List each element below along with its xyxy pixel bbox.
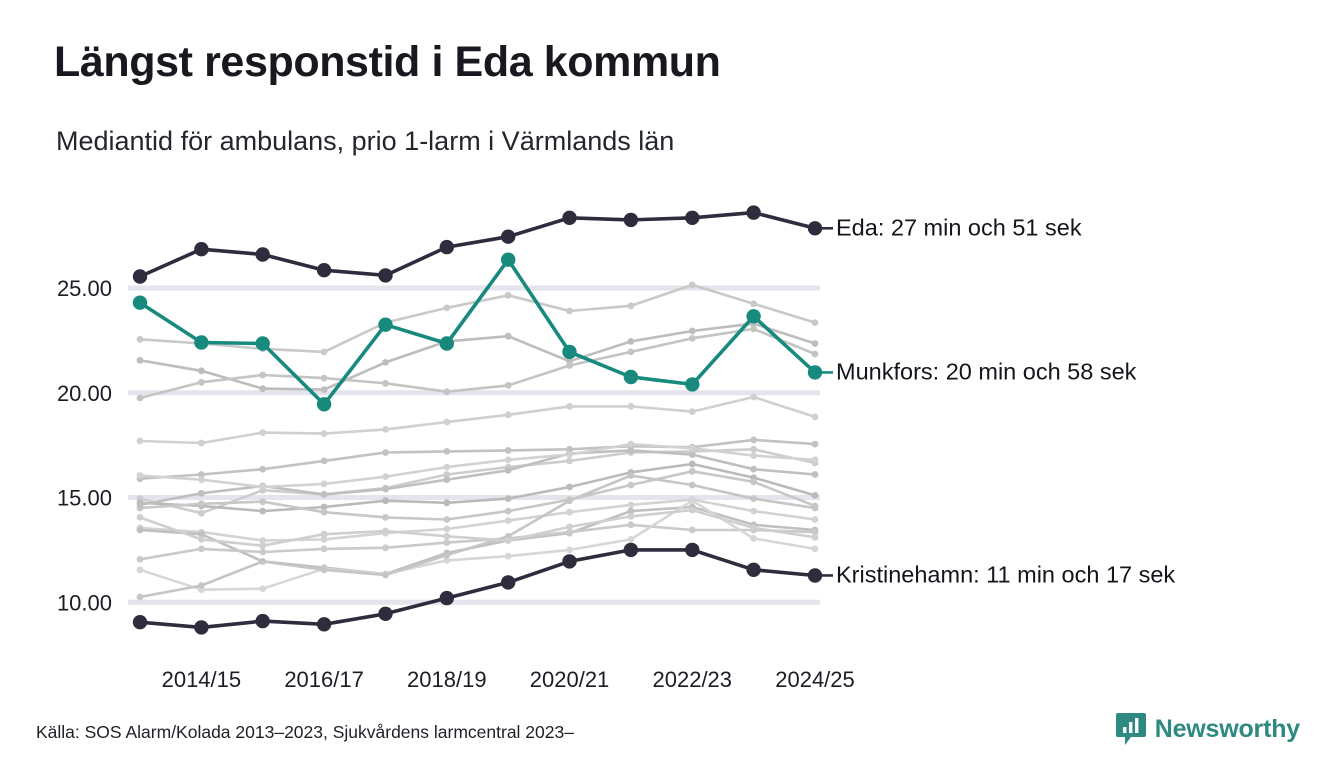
data-point bbox=[812, 492, 819, 499]
data-point bbox=[812, 505, 819, 512]
data-point bbox=[505, 467, 512, 474]
series-annotations-group: Eda: 27 min och 51 sekMunkfors: 20 min o… bbox=[820, 214, 1175, 587]
data-point bbox=[256, 336, 270, 350]
data-point bbox=[628, 482, 635, 489]
data-point bbox=[562, 345, 576, 359]
x-axis-tick-label: 2014/15 bbox=[162, 667, 242, 692]
data-point bbox=[382, 486, 389, 493]
data-point bbox=[689, 328, 696, 335]
data-point bbox=[505, 382, 512, 389]
data-point bbox=[137, 395, 144, 402]
data-point bbox=[259, 484, 266, 491]
data-point bbox=[501, 253, 515, 267]
data-point bbox=[566, 451, 573, 458]
data-point bbox=[812, 546, 819, 553]
data-point bbox=[812, 441, 819, 448]
data-point bbox=[750, 437, 757, 444]
data-point bbox=[321, 546, 328, 553]
annotation-label: Kristinehamn: 11 min och 17 sek bbox=[836, 562, 1175, 588]
data-point bbox=[812, 516, 819, 523]
data-point bbox=[382, 380, 389, 387]
data-point bbox=[321, 531, 328, 538]
data-point bbox=[194, 620, 208, 634]
data-point bbox=[137, 527, 144, 534]
data-point bbox=[624, 543, 638, 557]
data-point bbox=[689, 335, 696, 342]
data-point bbox=[812, 456, 819, 463]
data-point bbox=[259, 542, 266, 549]
data-point bbox=[382, 544, 389, 551]
data-point bbox=[259, 549, 266, 556]
series-line bbox=[140, 213, 815, 277]
data-point bbox=[321, 375, 328, 382]
data-point bbox=[750, 394, 757, 401]
data-point bbox=[566, 362, 573, 369]
data-point bbox=[317, 263, 331, 277]
data-point bbox=[566, 484, 573, 491]
data-point bbox=[133, 269, 147, 283]
data-point bbox=[198, 440, 205, 447]
annotation-label: Munkfors: 20 min och 58 sek bbox=[836, 359, 1137, 385]
data-point bbox=[382, 473, 389, 480]
data-point bbox=[566, 497, 573, 504]
data-point bbox=[259, 585, 266, 592]
data-point bbox=[443, 516, 450, 523]
data-point bbox=[198, 379, 205, 386]
data-point bbox=[198, 536, 205, 543]
data-point bbox=[198, 476, 205, 483]
data-point bbox=[443, 499, 450, 506]
data-point bbox=[137, 438, 144, 445]
data-point bbox=[628, 536, 635, 543]
data-point bbox=[689, 445, 696, 452]
annotation-Munkfors: Munkfors: 20 min och 58 sek bbox=[820, 359, 1137, 385]
x-axis-tick-label: 2018/19 bbox=[407, 667, 487, 692]
x-axis-tick-label: 2016/17 bbox=[284, 667, 364, 692]
data-point bbox=[137, 594, 144, 601]
data-point bbox=[566, 509, 573, 516]
chart-svg: 10.0015.0020.0025.00 2014/152016/172018/… bbox=[0, 0, 1340, 780]
data-point bbox=[259, 385, 266, 392]
data-point bbox=[382, 426, 389, 433]
data-point bbox=[505, 508, 512, 515]
data-point bbox=[443, 388, 450, 395]
data-point bbox=[256, 247, 270, 261]
data-point bbox=[505, 333, 512, 340]
y-axis-tick-label: 15.00 bbox=[57, 486, 112, 511]
y-axis-tick-label: 25.00 bbox=[57, 276, 112, 301]
data-point bbox=[198, 490, 205, 497]
annotation-label: Eda: 27 min och 51 sek bbox=[836, 214, 1082, 240]
data-point bbox=[750, 525, 757, 532]
data-point bbox=[689, 451, 696, 458]
series-other-4 bbox=[137, 394, 819, 447]
data-point bbox=[443, 448, 450, 455]
data-point bbox=[317, 617, 331, 631]
data-point bbox=[628, 441, 635, 448]
data-point bbox=[566, 458, 573, 465]
data-point bbox=[685, 543, 699, 557]
data-point bbox=[746, 309, 760, 323]
data-point bbox=[566, 403, 573, 410]
data-point bbox=[443, 539, 450, 546]
data-point bbox=[562, 554, 576, 568]
data-point bbox=[689, 461, 696, 468]
highlighted-series-group bbox=[133, 205, 822, 634]
series-Eda bbox=[133, 205, 822, 283]
data-point bbox=[689, 482, 696, 489]
data-point bbox=[137, 566, 144, 573]
data-point bbox=[259, 498, 266, 505]
data-point bbox=[750, 478, 757, 485]
x-axis-tick-label: 2024/25 bbox=[775, 667, 855, 692]
y-axis-tick-labels: 10.0015.0020.0025.00 bbox=[57, 276, 112, 615]
data-point bbox=[628, 338, 635, 345]
data-point bbox=[812, 340, 819, 347]
data-point bbox=[137, 556, 144, 563]
line-chart-plot: 10.0015.0020.0025.00 2014/152016/172018/… bbox=[0, 0, 1340, 780]
data-point bbox=[505, 456, 512, 463]
data-point bbox=[378, 318, 392, 332]
data-point bbox=[259, 508, 266, 515]
data-point bbox=[259, 558, 266, 565]
data-point bbox=[505, 411, 512, 418]
data-point bbox=[382, 514, 389, 521]
data-point bbox=[137, 336, 144, 343]
data-point bbox=[378, 607, 392, 621]
data-point bbox=[812, 414, 819, 421]
data-point bbox=[443, 552, 450, 559]
data-point bbox=[750, 446, 757, 453]
data-point bbox=[194, 335, 208, 349]
data-point bbox=[321, 430, 328, 437]
data-point bbox=[812, 351, 819, 358]
data-point bbox=[689, 497, 696, 504]
data-point bbox=[628, 521, 635, 528]
data-point bbox=[198, 510, 205, 517]
data-point bbox=[440, 240, 454, 254]
data-point bbox=[628, 447, 635, 454]
data-point bbox=[443, 533, 450, 540]
data-point bbox=[628, 502, 635, 509]
series-line bbox=[140, 324, 815, 390]
data-point bbox=[689, 527, 696, 534]
data-point bbox=[321, 349, 328, 356]
data-point bbox=[746, 563, 760, 577]
data-point bbox=[382, 528, 389, 535]
data-point bbox=[628, 403, 635, 410]
data-point bbox=[321, 386, 328, 393]
data-point bbox=[321, 481, 328, 488]
data-point bbox=[259, 466, 266, 473]
data-point bbox=[746, 205, 760, 219]
data-point bbox=[689, 282, 696, 289]
data-point bbox=[689, 408, 696, 415]
data-point bbox=[443, 464, 450, 471]
x-axis-tick-labels: 2014/152016/172018/192020/212022/232024/… bbox=[162, 667, 855, 692]
data-point bbox=[750, 452, 757, 459]
data-point bbox=[750, 535, 757, 542]
data-point bbox=[382, 359, 389, 366]
x-axis-tick-label: 2022/23 bbox=[653, 667, 733, 692]
data-point bbox=[321, 509, 328, 516]
data-point bbox=[443, 305, 450, 312]
data-point bbox=[812, 319, 819, 326]
data-point bbox=[198, 582, 205, 589]
series-other-16 bbox=[137, 441, 819, 491]
data-point bbox=[689, 468, 696, 475]
brand-name: Newsworthy bbox=[1155, 715, 1300, 744]
data-point bbox=[443, 419, 450, 426]
data-point bbox=[505, 517, 512, 524]
data-point bbox=[440, 336, 454, 350]
data-point bbox=[628, 472, 635, 479]
background-series-group bbox=[137, 282, 819, 601]
data-point bbox=[378, 268, 392, 282]
data-point bbox=[685, 211, 699, 225]
data-point bbox=[198, 367, 205, 374]
series-line bbox=[140, 525, 815, 560]
data-point bbox=[137, 514, 144, 521]
data-point bbox=[137, 357, 144, 364]
data-point bbox=[501, 575, 515, 589]
annotation-Eda: Eda: 27 min och 51 sek bbox=[820, 214, 1082, 240]
bar-chart-speech-bubble-icon bbox=[1116, 712, 1146, 746]
data-point bbox=[137, 472, 144, 479]
data-point bbox=[194, 242, 208, 256]
data-point bbox=[382, 497, 389, 504]
data-point bbox=[317, 397, 331, 411]
data-point bbox=[321, 566, 328, 573]
data-point bbox=[321, 458, 328, 465]
data-point bbox=[133, 296, 147, 310]
data-point bbox=[321, 491, 328, 498]
annotation-Kristinehamn: Kristinehamn: 11 min och 17 sek bbox=[820, 562, 1175, 588]
series-line bbox=[140, 500, 815, 541]
x-axis-tick-label: 2020/21 bbox=[530, 667, 610, 692]
data-point bbox=[628, 349, 635, 356]
data-point bbox=[750, 326, 757, 333]
chart-card: Längst responstid i Eda kommun Mediantid… bbox=[0, 0, 1340, 780]
data-point bbox=[256, 614, 270, 628]
data-point bbox=[501, 230, 515, 244]
data-point bbox=[750, 495, 757, 502]
data-point bbox=[382, 449, 389, 456]
newsworthy-logo: Newsworthy bbox=[1116, 712, 1300, 746]
data-point bbox=[198, 546, 205, 553]
data-point bbox=[259, 429, 266, 436]
data-point bbox=[198, 500, 205, 507]
data-point bbox=[689, 507, 696, 514]
data-point bbox=[443, 476, 450, 483]
data-point bbox=[566, 308, 573, 315]
data-point bbox=[443, 526, 450, 533]
data-point bbox=[382, 572, 389, 579]
data-point bbox=[137, 502, 144, 509]
data-point bbox=[750, 508, 757, 515]
data-point bbox=[685, 377, 699, 391]
data-point bbox=[750, 300, 757, 307]
data-point bbox=[505, 553, 512, 560]
data-point bbox=[624, 213, 638, 227]
data-point bbox=[505, 537, 512, 544]
data-point bbox=[505, 495, 512, 502]
y-axis-tick-label: 10.00 bbox=[57, 590, 112, 615]
series-other-6 bbox=[137, 446, 819, 517]
data-point bbox=[812, 534, 819, 541]
series-other-3 bbox=[137, 326, 819, 402]
series-line bbox=[140, 397, 815, 443]
y-axis-tick-label: 20.00 bbox=[57, 381, 112, 406]
data-point bbox=[812, 471, 819, 478]
data-point bbox=[505, 292, 512, 299]
data-point bbox=[750, 466, 757, 473]
data-point bbox=[562, 211, 576, 225]
data-point bbox=[566, 524, 573, 531]
data-point bbox=[440, 591, 454, 605]
data-point bbox=[566, 547, 573, 554]
source-note: Källa: SOS Alarm/Kolada 2013–2023, Sjukv… bbox=[36, 722, 574, 743]
data-point bbox=[133, 615, 147, 629]
data-point bbox=[628, 302, 635, 309]
data-point bbox=[505, 447, 512, 454]
data-point bbox=[624, 370, 638, 384]
data-point bbox=[259, 372, 266, 379]
data-point bbox=[628, 513, 635, 520]
